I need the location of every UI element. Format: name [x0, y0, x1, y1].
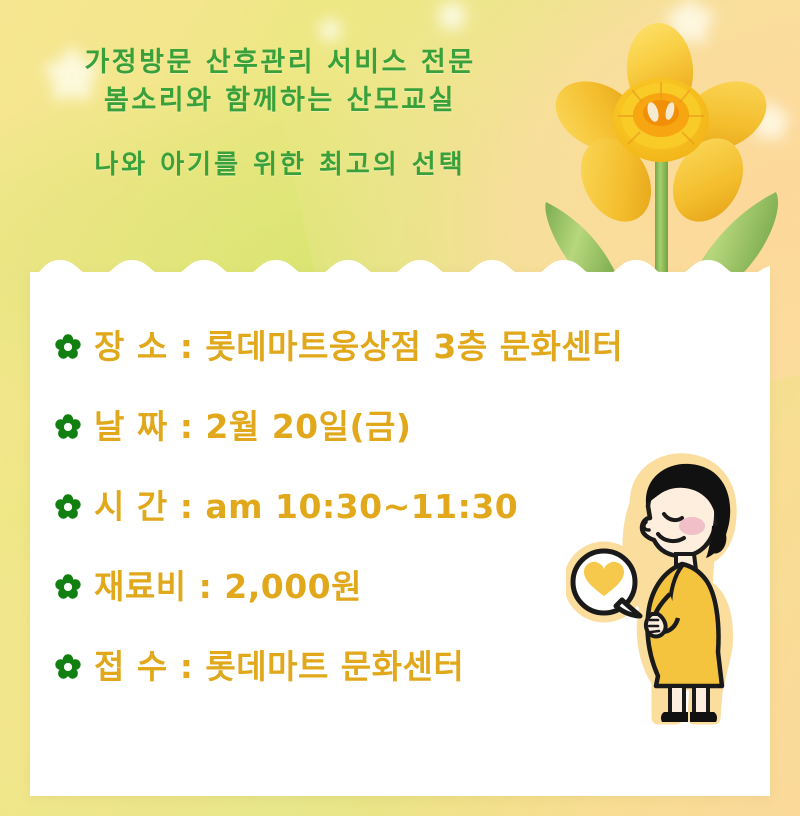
detail-text-date: 날 짜 : 2월 20일(금) [94, 410, 412, 443]
detail-text-registration: 접 수 : 롯데마트 문화센터 [94, 650, 464, 683]
flower-bullet-icon [55, 574, 81, 600]
header-line-2: 봄소리와 함께하는 산모교실 [0, 82, 560, 120]
poster-canvas: 가정방문 산후관리 서비스 전문 봄소리와 함께하는 산모교실 나와 아기를 위… [0, 0, 800, 816]
detail-text-time: 시 간 : am 10:30~11:30 [94, 490, 518, 523]
flower-bullet-icon [55, 334, 81, 360]
detail-text-fee: 재료비 : 2,000원 [94, 570, 362, 603]
header-line-1: 가정방문 산후관리 서비스 전문 [0, 44, 560, 82]
flower-bullet-icon [55, 654, 81, 680]
header-text-block: 가정방문 산후관리 서비스 전문 봄소리와 함께하는 산모교실 나와 아기를 위… [0, 44, 560, 184]
detail-row-place: 장 소 : 롯데마트웅상점 3층 문화센터 [30, 306, 770, 386]
flower-bullet-icon [55, 414, 81, 440]
header-tagline: 나와 아기를 위한 최고의 선택 [0, 147, 560, 184]
flower-bullet-icon [55, 494, 81, 520]
detail-text-place: 장 소 : 롯데마트웅상점 3층 문화센터 [94, 330, 623, 363]
pregnant-woman-icon [566, 446, 776, 736]
